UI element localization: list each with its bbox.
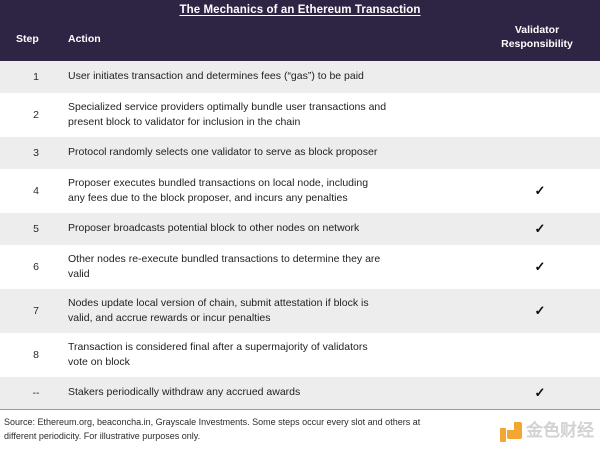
footnote-line-1: Source: Ethereum.org, beaconcha.in, Gray… bbox=[4, 415, 592, 429]
cell-action-line: any fees due to the block proposer, and … bbox=[68, 191, 466, 207]
check-icon: ✓ bbox=[535, 386, 546, 399]
cell-action-line: Transaction is considered final after a … bbox=[68, 340, 466, 356]
column-header-action: Action bbox=[68, 33, 101, 45]
cell-action: Nodes update local version of chain, sub… bbox=[68, 296, 480, 327]
table-row: 4Proposer executes bundled transactions … bbox=[0, 169, 600, 213]
cell-action: Transaction is considered final after a … bbox=[68, 340, 480, 371]
column-header-row: Step Action Validator Responsibility bbox=[0, 22, 600, 61]
check-icon: ✓ bbox=[535, 304, 546, 317]
cell-action-line: valid, and accrue rewards or incur penal… bbox=[68, 311, 466, 327]
validator-header-line2: Responsibility bbox=[501, 38, 573, 50]
cell-action-line: Protocol randomly selects one validator … bbox=[68, 145, 466, 161]
table-row: 3Protocol randomly selects one validator… bbox=[0, 137, 600, 169]
cell-validator-responsibility: ✓ bbox=[480, 223, 600, 236]
cell-validator-responsibility: ✓ bbox=[480, 185, 600, 198]
ethereum-transaction-mechanics-table: The Mechanics of an Ethereum Transaction… bbox=[0, 0, 600, 446]
page-title: The Mechanics of an Ethereum Transaction bbox=[0, 4, 600, 16]
cell-action: Proposer broadcasts potential block to o… bbox=[68, 221, 480, 237]
table-row: 6Other nodes re-execute bundled transact… bbox=[0, 245, 600, 289]
cell-action-line: present block to validator for inclusion… bbox=[68, 115, 466, 131]
cell-validator-responsibility: ✓ bbox=[480, 305, 600, 318]
cell-action: Specialized service providers optimally … bbox=[68, 100, 480, 131]
table-row: 5Proposer broadcasts potential block to … bbox=[0, 213, 600, 245]
column-header-step: Step bbox=[16, 33, 39, 45]
source-footnote: Source: Ethereum.org, beaconcha.in, Gray… bbox=[0, 410, 600, 449]
cell-action-line: valid bbox=[68, 267, 466, 283]
cell-step: -- bbox=[0, 387, 68, 399]
cell-step: 5 bbox=[0, 223, 68, 235]
cell-step: 7 bbox=[0, 305, 68, 317]
cell-step: 2 bbox=[0, 109, 68, 121]
table-body: 1User initiates transaction and determin… bbox=[0, 61, 600, 409]
check-icon: ✓ bbox=[535, 184, 546, 197]
footnote-line-2: different periodicity. For illustrative … bbox=[4, 429, 592, 443]
cell-action: Other nodes re-execute bundled transacti… bbox=[68, 252, 480, 283]
cell-action-line: Other nodes re-execute bundled transacti… bbox=[68, 252, 466, 268]
table-row: 8Transaction is considered final after a… bbox=[0, 333, 600, 377]
cell-action-line: Stakers periodically withdraw any accrue… bbox=[68, 385, 466, 401]
cell-action-line: vote on block bbox=[68, 355, 466, 371]
check-icon: ✓ bbox=[535, 222, 546, 235]
validator-header-line1: Validator bbox=[515, 24, 559, 36]
cell-action-line: Proposer broadcasts potential block to o… bbox=[68, 221, 466, 237]
column-header-validator-responsibility: Validator Responsibility bbox=[477, 23, 597, 51]
cell-step: 6 bbox=[0, 261, 68, 273]
table-row: --Stakers periodically withdraw any accr… bbox=[0, 377, 600, 409]
cell-action-line: Proposer executes bundled transactions o… bbox=[68, 176, 466, 192]
table-row: 2Specialized service providers optimally… bbox=[0, 93, 600, 137]
cell-step: 4 bbox=[0, 185, 68, 197]
cell-action-line: Nodes update local version of chain, sub… bbox=[68, 296, 466, 312]
cell-action: Stakers periodically withdraw any accrue… bbox=[68, 385, 480, 401]
table-row: 7Nodes update local version of chain, su… bbox=[0, 289, 600, 333]
table-header: The Mechanics of an Ethereum Transaction… bbox=[0, 0, 600, 61]
check-icon: ✓ bbox=[535, 260, 546, 273]
cell-step: 3 bbox=[0, 147, 68, 159]
cell-action: Protocol randomly selects one validator … bbox=[68, 145, 480, 161]
cell-action-line: User initiates transaction and determine… bbox=[68, 69, 466, 85]
table-row: 1User initiates transaction and determin… bbox=[0, 61, 600, 93]
cell-action: Proposer executes bundled transactions o… bbox=[68, 176, 480, 207]
cell-step: 1 bbox=[0, 71, 68, 83]
cell-step: 8 bbox=[0, 349, 68, 361]
cell-validator-responsibility: ✓ bbox=[480, 261, 600, 274]
cell-action: User initiates transaction and determine… bbox=[68, 69, 480, 85]
cell-action-line: Specialized service providers optimally … bbox=[68, 100, 466, 116]
cell-validator-responsibility: ✓ bbox=[480, 387, 600, 400]
